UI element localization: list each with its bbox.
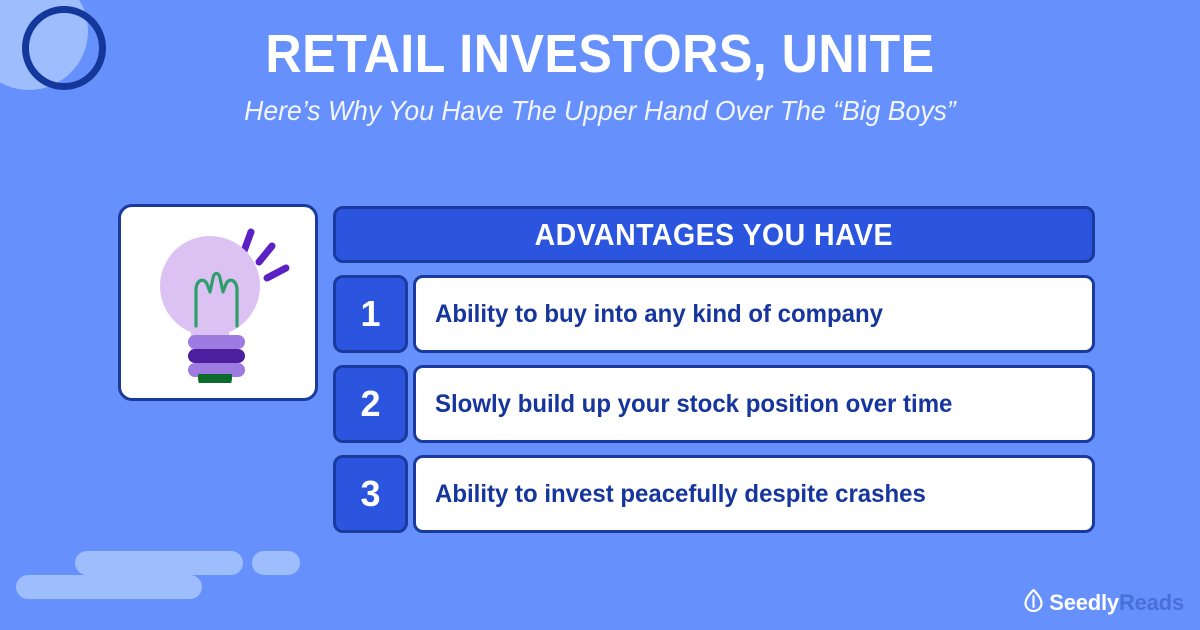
brand-logo-text: SeedlyReads <box>1049 590 1184 616</box>
illustration-card <box>118 204 318 401</box>
brand-name-secondary: Reads <box>1119 590 1184 615</box>
brand-name-primary: Seedly <box>1049 590 1119 615</box>
page-title: RETAIL INVESTORS, UNITE <box>42 26 1158 83</box>
decorative-pill-top <box>75 551 243 575</box>
page-subtitle: Here’s Why You Have The Upper Hand Over … <box>30 95 1170 127</box>
advantages-header: ADVANTAGES YOU HAVE <box>333 206 1095 263</box>
advantages-panel: ADVANTAGES YOU HAVE 1 Ability to buy int… <box>333 206 1095 533</box>
decorative-pill-small <box>252 551 300 575</box>
seed-leaf-icon <box>1023 588 1044 618</box>
lightbulb-icon <box>143 218 293 388</box>
advantages-header-label: ADVANTAGES YOU HAVE <box>535 217 893 253</box>
advantage-row: 2 Slowly build up your stock position ov… <box>333 365 1095 443</box>
header: RETAIL INVESTORS, UNITE Here’s Why You H… <box>0 26 1200 127</box>
advantage-number-badge: 1 <box>333 275 408 353</box>
advantage-number-badge: 3 <box>333 455 408 533</box>
advantage-number-badge: 2 <box>333 365 408 443</box>
advantage-row: 3 Ability to invest peacefully despite c… <box>333 455 1095 533</box>
advantage-text: Ability to invest peacefully despite cra… <box>435 480 926 509</box>
advantage-text-card: Ability to buy into any kind of company <box>413 275 1095 353</box>
advantage-text-card: Ability to invest peacefully despite cra… <box>413 455 1095 533</box>
decorative-pill-bottom <box>16 575 202 599</box>
brand-logo: SeedlyReads <box>1023 588 1184 618</box>
advantage-text: Ability to buy into any kind of company <box>435 300 883 329</box>
advantage-row: 1 Ability to buy into any kind of compan… <box>333 275 1095 353</box>
advantage-text: Slowly build up your stock position over… <box>435 390 952 419</box>
advantage-text-card: Slowly build up your stock position over… <box>413 365 1095 443</box>
